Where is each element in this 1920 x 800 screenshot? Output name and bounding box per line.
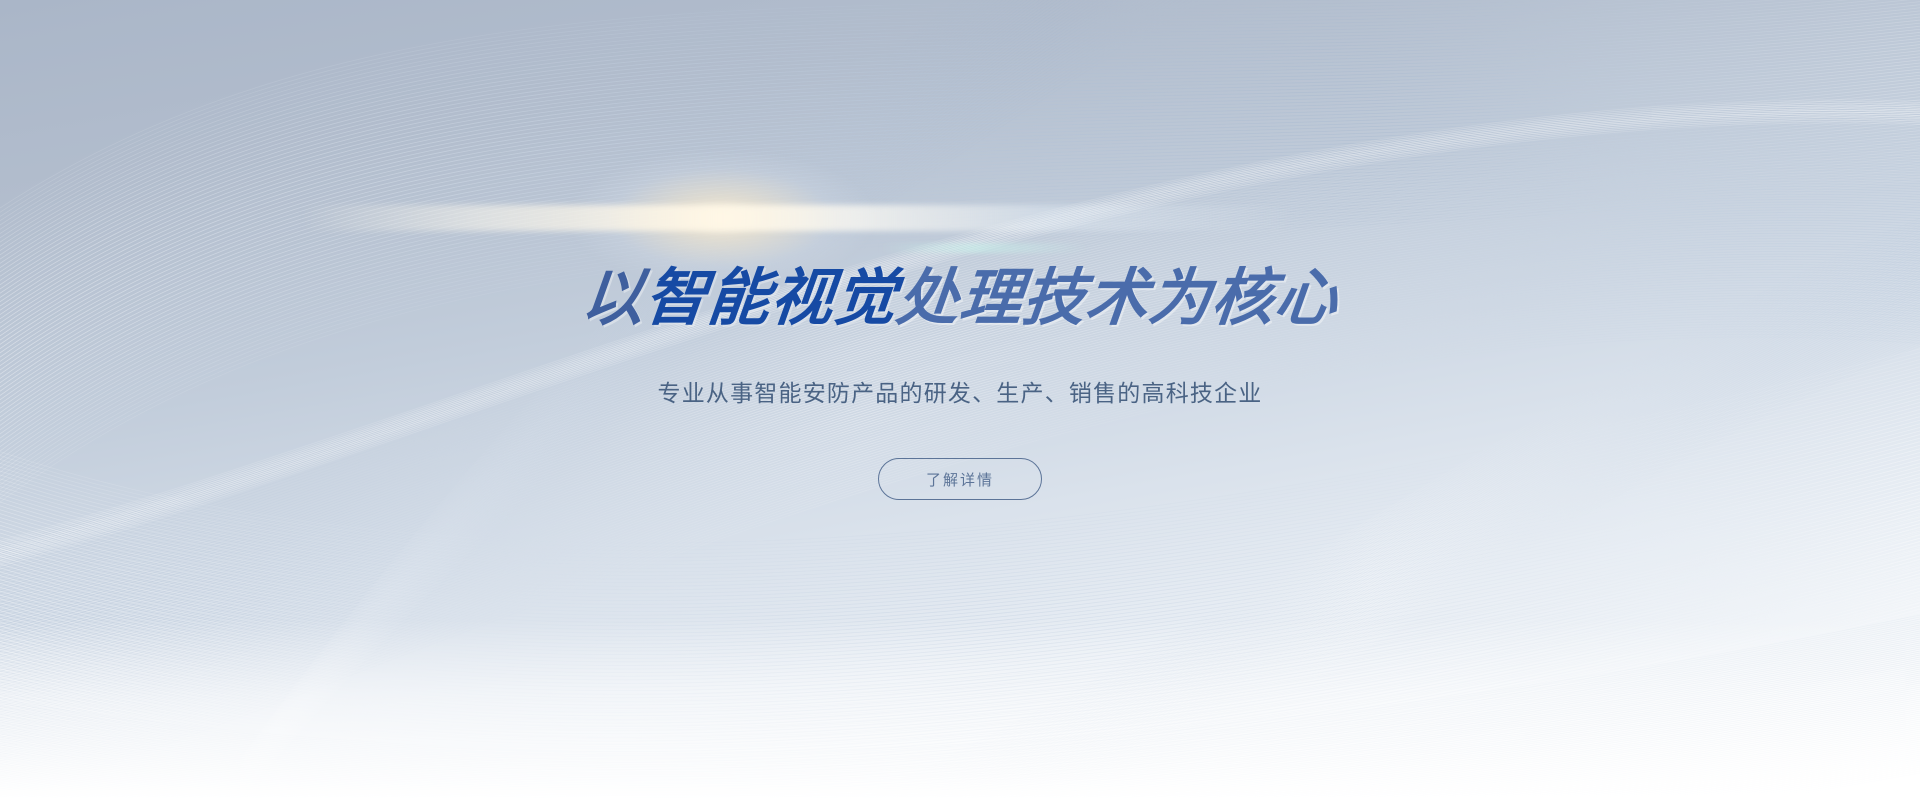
- headline-segment-2: 智能视觉: [642, 268, 901, 330]
- headline-segment-1: 以: [579, 268, 649, 330]
- hero-content: 以智能视觉处理技术为核心 专业从事智能安防产品的研发、生产、销售的高科技企业 了…: [0, 0, 1920, 800]
- hero-banner: 以智能视觉处理技术为核心 专业从事智能安防产品的研发、生产、销售的高科技企业 了…: [0, 0, 1920, 800]
- headline-segment-3: 处理技术为核心: [894, 268, 1342, 330]
- learn-more-button-label: 了解详情: [926, 469, 994, 490]
- hero-subtitle: 专业从事智能安防产品的研发、生产、销售的高科技企业: [658, 374, 1263, 408]
- learn-more-button[interactable]: 了解详情: [878, 458, 1042, 500]
- page-title: 以智能视觉处理技术为核心: [579, 268, 1342, 330]
